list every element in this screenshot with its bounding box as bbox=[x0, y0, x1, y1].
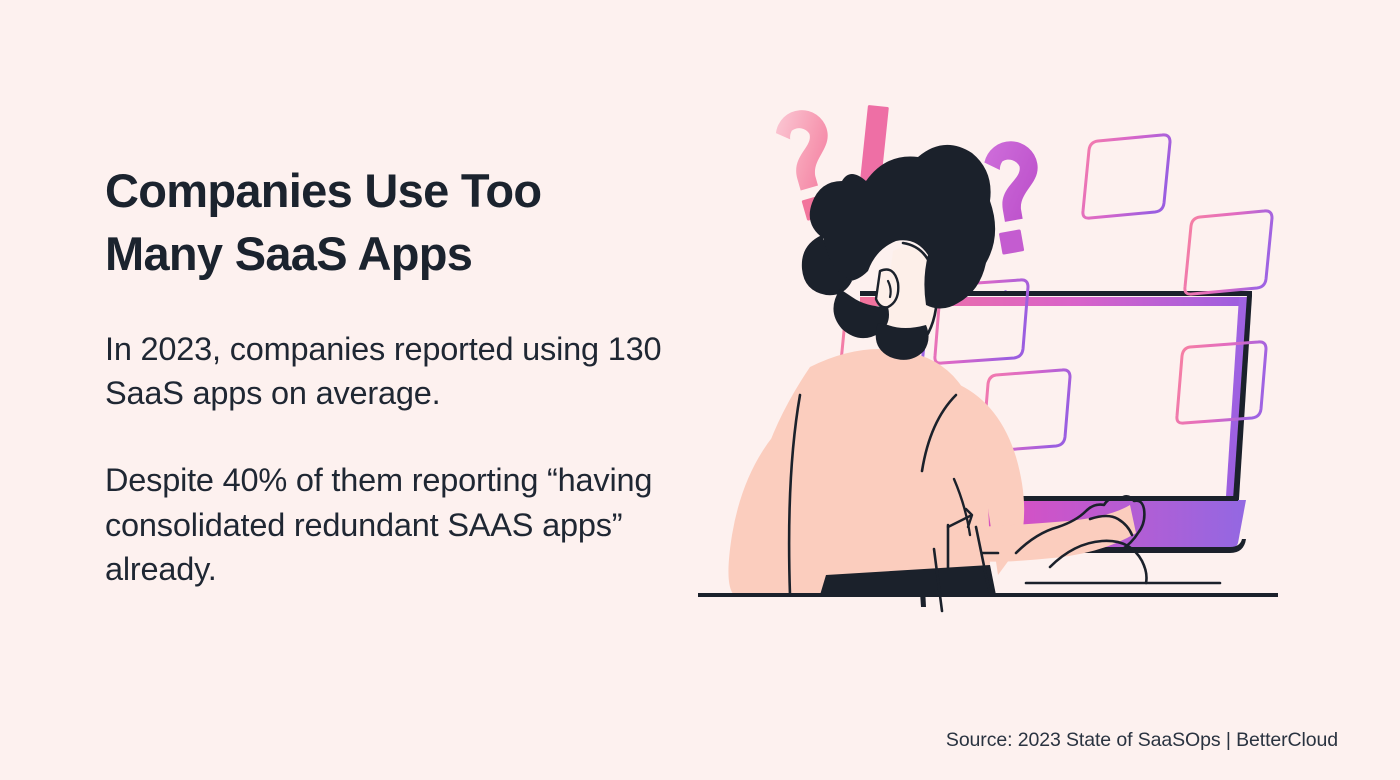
illustration-person-at-monitor bbox=[690, 75, 1300, 635]
source-attribution: Source: 2023 State of SaaSOps | BetterCl… bbox=[946, 729, 1338, 752]
headline-line-2: Many SaaS Apps bbox=[105, 227, 472, 280]
desk-line bbox=[698, 593, 1278, 597]
infographic-canvas: Companies Use Too Many SaaS Apps In 2023… bbox=[0, 0, 1400, 780]
body-paragraph-1: In 2023, companies reported using 130 Sa… bbox=[105, 327, 680, 415]
headline-line-1: Companies Use Too bbox=[105, 164, 541, 217]
body-paragraph-2: Despite 40% of them reporting “having co… bbox=[105, 458, 680, 591]
app-window-1 bbox=[1083, 135, 1170, 218]
text-column: Companies Use Too Many SaaS Apps In 2023… bbox=[105, 160, 680, 591]
app-window-2 bbox=[1185, 211, 1272, 294]
page-title: Companies Use Too Many SaaS Apps bbox=[105, 160, 680, 285]
